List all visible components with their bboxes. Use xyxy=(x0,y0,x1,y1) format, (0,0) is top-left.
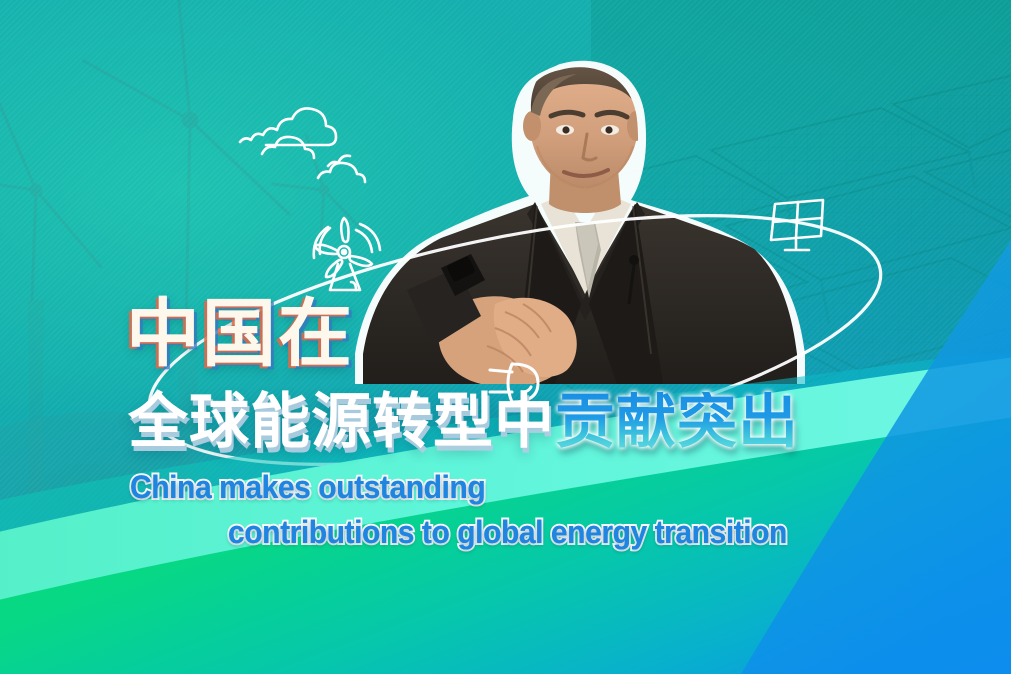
right-blue-wedge xyxy=(591,240,1011,674)
poster-canvas: 中国在 全球能源转型中贡献突出 China makes outstanding … xyxy=(0,0,1011,674)
